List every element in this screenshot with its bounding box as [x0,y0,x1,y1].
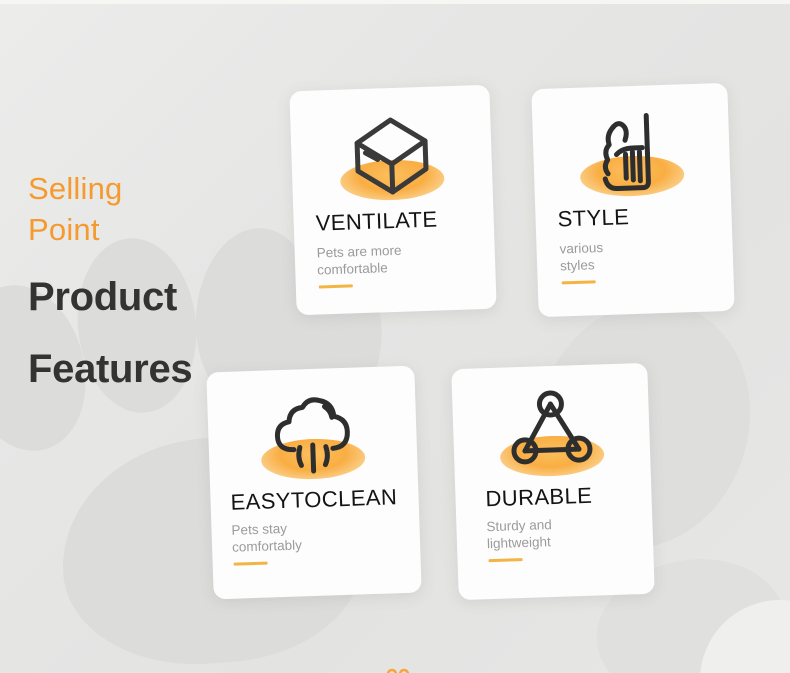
accent-underline [319,284,353,288]
feature-card-easytoclean[interactable]: EASYTOCLEAN Pets stay comfortably [206,366,421,600]
card-subtitle-line-1: various [559,240,603,256]
cloud-rain-icon [268,392,357,482]
feature-card-ventilate[interactable]: VENTILATE Pets are more comfortable [289,85,496,316]
accent-underline [234,562,268,566]
hand-fist-icon [591,109,672,201]
card-subtitle-line-2: comfortably [232,537,302,554]
icon-area [207,390,418,485]
top-edge-strip [0,0,790,4]
triangle-joint-icon [508,389,595,477]
card-subtitle-line-2: styles [560,257,595,273]
icon-area [452,387,651,481]
card-title: EASYTOCLEAN [230,484,397,516]
card-subtitle: Sturdy and lightweight [486,516,552,552]
card-subtitle-line-2: comfortable [317,260,388,277]
icon-area [532,107,731,201]
card-subtitle: Pets stay comfortably [231,519,302,555]
accent-underline [489,558,523,562]
card-title: STYLE [557,204,630,232]
partial-orange-arc-icon [385,664,411,673]
page-title-line-1: Product [28,272,192,322]
card-subtitle: various styles [559,239,604,274]
feature-card-durable[interactable]: DURABLE Sturdy and lightweight [451,363,655,600]
card-subtitle-line-1: Pets stay [231,521,287,538]
accent-underline [562,280,596,284]
card-title: DURABLE [485,483,593,513]
product-features-banner: Selling Point Product Features [0,0,790,673]
page-title-line-2: Features [28,344,192,394]
box-icon [349,113,434,205]
card-subtitle: Pets are more comfortable [316,242,402,279]
eyebrow-line-1: Selling [28,168,192,209]
card-title: VENTILATE [315,207,438,237]
heading-block: Selling Point Product Features [28,168,192,394]
eyebrow-line-2: Point [28,209,192,250]
icon-area [290,111,493,206]
card-subtitle-line-1: Sturdy and [486,517,552,534]
feature-card-style[interactable]: STYLE various styles [531,83,734,317]
card-subtitle-line-1: Pets are more [316,243,401,261]
card-subtitle-line-2: lightweight [487,534,551,551]
